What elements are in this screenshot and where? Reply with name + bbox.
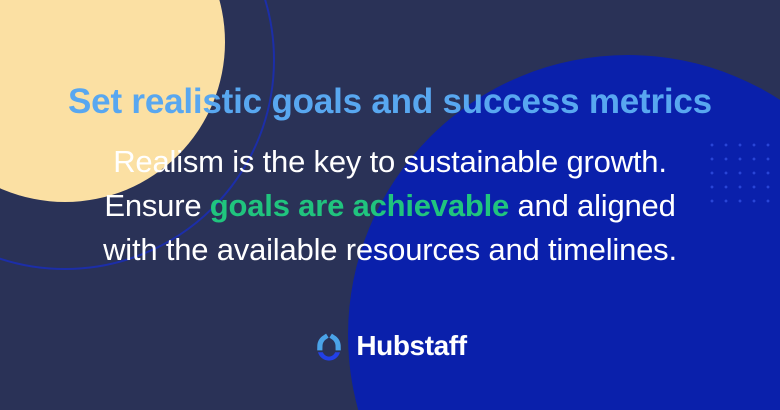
body-line-1: Realism is the key to sustainable growth… — [103, 140, 677, 184]
body-line-2-prefix: Ensure — [104, 188, 209, 223]
slide-content: Set realistic goals and success metrics … — [0, 0, 780, 410]
slide-body-copy: Realism is the key to sustainable growth… — [103, 121, 677, 272]
body-line-2: Ensure goals are achievable and aligned — [103, 184, 677, 228]
body-line-3: with the available resources and timelin… — [103, 228, 677, 272]
slide-canvas: Set realistic goals and success metrics … — [0, 0, 780, 410]
body-line-2-suffix: and aligned — [509, 188, 676, 223]
body-line-2-highlight: goals are achievable — [210, 188, 509, 223]
slide-headline: Set realistic goals and success metrics — [68, 0, 712, 121]
